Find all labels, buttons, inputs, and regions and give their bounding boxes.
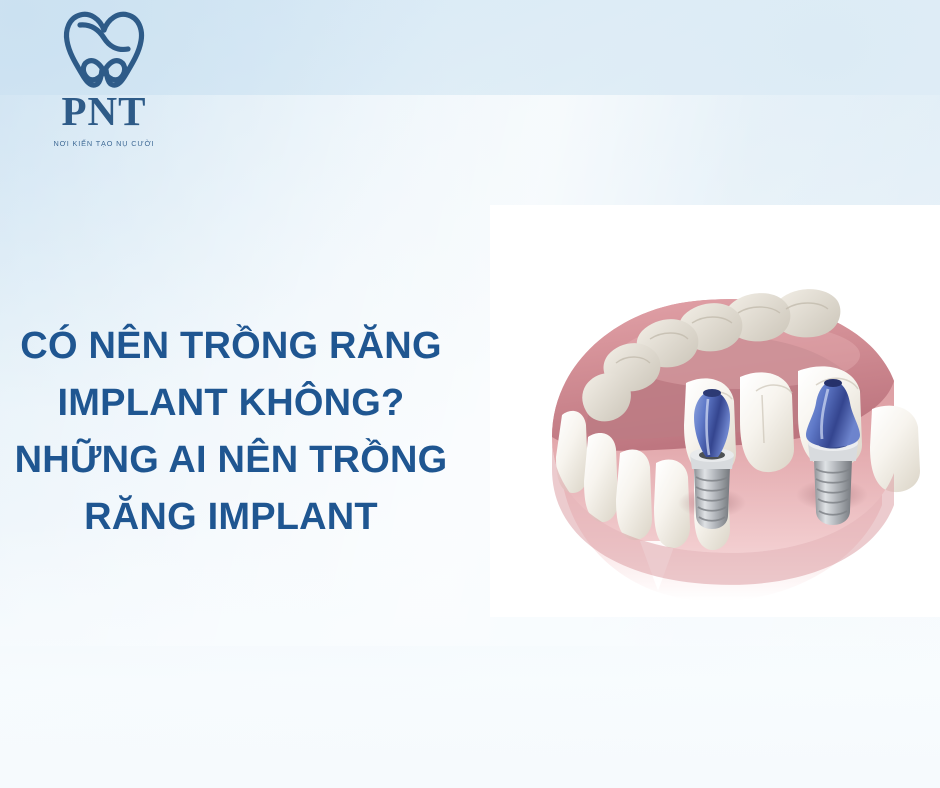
tooth-canine bbox=[616, 449, 652, 540]
headline: CÓ NÊN TRỒNG RĂNG IMPLANT KHÔNG? NHỮNG A… bbox=[0, 318, 462, 546]
brand-logo: PNT NƠI KIẾN TẠO NỤ CƯỜI bbox=[24, 8, 184, 148]
tooth-heart-logo-icon bbox=[59, 8, 149, 90]
headline-line-3: NHỮNG AI NÊN TRỒNG bbox=[0, 432, 462, 489]
dental-implant-1 bbox=[690, 389, 734, 529]
tooth-crown-4 bbox=[870, 406, 920, 493]
banner-root: PNT NƠI KIẾN TẠO NỤ CƯỜI CÓ NÊN TRỒNG RĂ… bbox=[0, 0, 940, 788]
brand-name: PNT bbox=[24, 91, 184, 132]
headline-line-4: RĂNG IMPLANT bbox=[0, 489, 462, 546]
brand-tagline: NƠI KIẾN TẠO NỤ CƯỜI bbox=[24, 139, 184, 148]
headline-line-2: IMPLANT KHÔNG? bbox=[0, 375, 462, 432]
tooth-incisor-2 bbox=[584, 433, 618, 522]
dental-model-illustration bbox=[490, 205, 940, 617]
headline-line-1: CÓ NÊN TRỒNG RĂNG bbox=[0, 318, 462, 375]
dental-implant-model-image bbox=[490, 205, 940, 617]
implant-abutment-top-1 bbox=[703, 389, 721, 397]
implant-abutment-top-2 bbox=[824, 379, 842, 387]
